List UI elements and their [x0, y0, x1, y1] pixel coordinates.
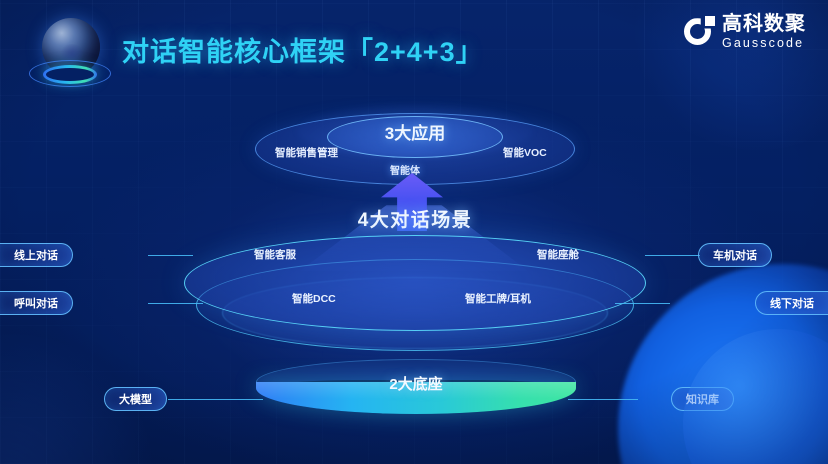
- logo-square-icon: [705, 16, 715, 26]
- middle-layer-item-2: 智能DCC: [292, 291, 336, 306]
- connector-right-1: [615, 303, 670, 304]
- gausscode-mark-icon: [684, 16, 715, 47]
- company-logo: 高科数聚 Gausscode: [684, 14, 806, 50]
- top-layer-label-sales: 智能销售管理: [275, 145, 338, 160]
- pill-left-2[interactable]: 大模型: [104, 387, 167, 411]
- connector-right-0: [645, 255, 700, 256]
- middle-layer-item-0: 智能客服: [254, 247, 296, 262]
- inner-glow-ring-icon: [43, 65, 97, 84]
- top-layer-label-agent: 智能体: [390, 162, 420, 177]
- top-layer-label-voc: 智能VOC: [503, 145, 547, 160]
- top-layer-title: 3大应用: [355, 119, 475, 144]
- connector-right-2: [568, 399, 638, 400]
- connector-left-1: [148, 303, 203, 304]
- base-layer-title: 2大底座: [336, 373, 496, 394]
- corner-sphere-accent: [683, 329, 828, 464]
- logo-text: 高科数聚 Gausscode: [722, 14, 806, 50]
- brand-mark: [26, 16, 114, 96]
- logo-name-cn: 高科数聚: [722, 14, 806, 34]
- pill-right-1[interactable]: 线下对话: [755, 291, 828, 315]
- header: 对话智能核心框架「2+4+3」 高科数聚 Gausscode: [0, 0, 828, 105]
- page-title: 对话智能核心框架「2+4+3」: [122, 30, 484, 69]
- middle-layer-item-1: 智能座舱: [537, 247, 579, 262]
- pill-left-1[interactable]: 呼叫对话: [0, 291, 73, 315]
- pill-right-0[interactable]: 车机对话: [698, 243, 772, 267]
- middle-layer-item-3: 智能工牌/耳机: [465, 291, 531, 306]
- framework-diagram: 3大应用 智能销售管理 智能VOC 智能体 4大对话场景 智能客服 智能座舱 智…: [0, 95, 828, 464]
- logo-name-en: Gausscode: [722, 37, 806, 50]
- connector-left-2: [168, 399, 263, 400]
- middle-layer-title: 4大对话场景: [330, 205, 500, 232]
- connector-left-0: [148, 255, 193, 256]
- pill-left-0[interactable]: 线上对话: [0, 243, 73, 267]
